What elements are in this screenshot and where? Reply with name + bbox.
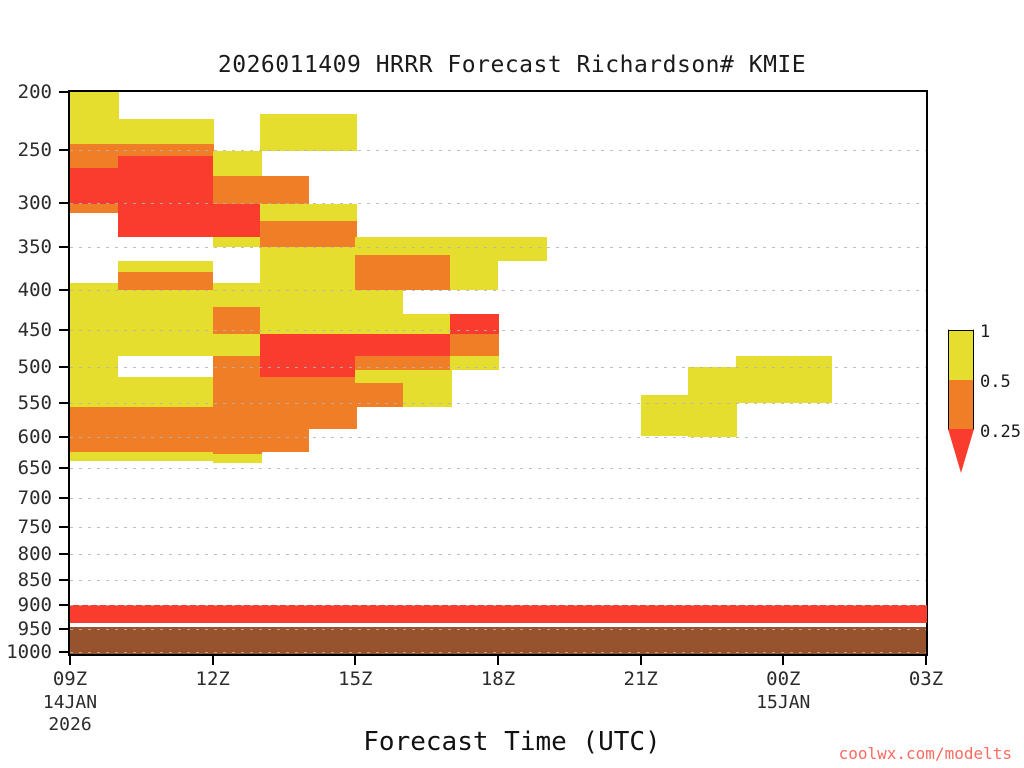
surface-layer-cell [593,605,642,623]
surface-layer-cell [783,605,832,623]
heatmap-cell [213,454,262,462]
x-tick-sublabel-15JAN: 15JAN [756,692,810,713]
heatmap-cell [783,356,832,403]
heatmap-cell [70,144,119,156]
y-tick-mark [59,651,68,653]
heatmap-cell [308,377,357,406]
heatmap-cell [308,261,357,290]
surface-layer-cell [831,605,880,623]
y-tick-mark [59,246,68,248]
heatmap-cell [403,370,452,383]
heatmap-cell [118,213,167,237]
colorbar-arrow-below [948,429,974,473]
heatmap-cell [165,452,214,461]
heatmap-cell [70,334,119,371]
surface-layer-cell [878,605,927,623]
y-tick-label-350: 350 [18,236,52,258]
heatmap-cell [213,307,262,334]
heatmap-cell [308,356,357,377]
heatmap-cell [70,407,119,429]
y-tick-mark [59,366,68,368]
x-tick-sublabel-14JAN: 14JAN [43,692,97,713]
heatmap-cell [70,429,119,451]
heatmap-cell [308,221,357,246]
heatmap-cell [118,334,167,356]
heatmap-cell [165,156,214,214]
y-tick-label-400: 400 [18,279,52,301]
heatmap-cell [308,247,357,261]
y-axis: 2002503003504004505005506006507007508008… [0,90,68,656]
heatmap-cell [118,119,167,144]
surface-layer-cell [165,605,214,623]
colorbar-label-025: 0.25 [980,422,1021,442]
heatmap-cell [260,261,309,290]
heatmap-cell [213,151,262,176]
colorbar-segment-orange [949,380,973,429]
colorbar-legend: 1 0.5 0.25 [944,300,1024,480]
heatmap-cell [213,407,262,429]
heatmap-cell [355,370,404,383]
x-tick-label-12Z: 12Z [196,668,230,690]
y-tick-mark [59,579,68,581]
x-tick-mark [212,656,214,665]
y-tick-mark [59,329,68,331]
heatmap-cell [213,334,262,356]
heatmap-cell [70,168,119,205]
heatmap-cell [213,356,262,407]
surface-layer-cell [260,605,309,623]
x-tick-label-15Z: 15Z [338,668,372,690]
heatmap-cell [165,119,214,144]
heatmap-cell [260,334,309,356]
y-tick-mark [59,402,68,404]
heatmap-cell [403,383,452,407]
heatmap-cell [355,314,404,334]
heatmap-cell [308,204,357,221]
y-tick-label-700: 700 [18,487,52,509]
heatmap-cell [308,334,357,356]
y-tick-label-450: 450 [18,319,52,341]
heatmap-cell [165,377,214,406]
y-tick-label-950: 950 [18,618,52,640]
y-tick-label-250: 250 [18,139,52,161]
surface-layer-cell [355,605,404,623]
colorbar-segment-yellow [949,331,973,380]
heatmap-cell [165,407,214,452]
y-tick-mark [59,628,68,630]
y-tick-mark [59,436,68,438]
heatmap-cell [355,383,404,407]
heatmap-cell [213,176,262,204]
y-tick-label-600: 600 [18,426,52,448]
heatmap-cell [260,377,309,406]
heatmap-cell [403,255,452,290]
heatmap-cell [450,255,499,290]
surface-layer-cell [546,605,595,623]
heatmap-cell [355,237,404,255]
y-tick-mark [59,91,68,93]
heatmap-cell [118,356,167,377]
heatmap-cell [260,247,309,261]
y-tick-label-850: 850 [18,569,52,591]
heatmap-cell [118,272,167,290]
heatmap-cell [403,237,452,255]
colorbar-label-05: 0.5 [980,372,1011,392]
colorbar-label-1: 1 [980,322,990,342]
heatmap-cell [118,237,167,261]
heatmap-cell [165,213,214,237]
heatmap-cell [450,237,499,255]
surface-layer-cell [498,605,547,623]
y-tick-label-900: 900 [18,594,52,616]
heatmap-cell [165,144,214,156]
watermark: coolwx.com/modelts [839,744,1012,763]
heatmap-cell [213,247,262,284]
y-tick-label-300: 300 [18,192,52,214]
heatmap-cell [260,204,309,221]
heatmap-cell [70,240,119,283]
colorbar-arrow-above-outline [948,300,974,331]
heatmap-cell [213,429,262,454]
y-tick-label-1000: 1000 [6,641,52,663]
surface-layer-cell [403,605,452,623]
heatmap-cell [70,283,119,334]
heatmap-cell [260,356,309,377]
heatmap-cell [403,290,452,314]
x-tick-mark [69,656,71,665]
colorbar-body [948,330,974,430]
heatmap-cell [260,407,309,452]
heatmap-cell [70,204,119,213]
heatmap-cell [70,119,119,144]
heatmap-cell [355,356,404,370]
heatmap-cell [450,314,499,334]
heatmap-cell [118,261,167,272]
surface-layer-cell [450,605,499,623]
heatmap-cell [355,334,404,356]
heatmap-cell [308,114,357,151]
x-tick-label-00Z: 00Z [766,668,800,690]
heatmap-cell [70,213,119,239]
heatmap-cell [403,356,452,370]
heatmap-cell [213,204,262,237]
heatmap-cell [213,237,262,247]
y-tick-mark [59,289,68,291]
heatmap-cell [118,407,167,452]
y-tick-label-800: 800 [18,543,52,565]
heatmap-cell [260,114,309,151]
heatmap-cell [498,261,547,290]
y-tick-label-650: 650 [18,457,52,479]
heatmap-cell [70,156,119,168]
heatmap-cell [70,370,119,407]
heatmap-cell [403,314,452,334]
x-tick-label-21Z: 21Z [624,668,658,690]
x-tick-mark [497,656,499,665]
heatmap-cell [165,290,214,334]
y-tick-mark [59,526,68,528]
x-tick-label-09Z: 09Z [53,668,87,690]
y-tick-mark [59,604,68,606]
heatmap-cell [308,407,357,429]
heatmap-cell [308,290,357,334]
heatmap-cell [118,452,167,461]
y-tick-mark [59,202,68,204]
heatmap-cell [260,176,309,204]
surface-layer-cell [308,605,357,623]
heatmap-cell [118,377,167,406]
heatmap-cell [213,283,262,307]
y-tick-label-750: 750 [18,516,52,538]
heatmap-cell [70,452,119,461]
heatmap-cell [165,272,214,290]
x-tick-label-18Z: 18Z [481,668,515,690]
x-tick-mark [782,656,784,665]
heatmap-cell [165,356,214,377]
heatmap-cell [118,290,167,334]
surface-layer-cell [70,605,119,623]
heatmap-cell [118,144,167,156]
heatmap-cell [450,356,499,370]
y-tick-label-200: 200 [18,81,52,103]
heatmap-cell [118,156,167,214]
heatmap-cell [260,221,309,246]
heatmap-cell [165,237,214,261]
terrain-band [70,627,926,654]
chart-title: 2026011409 HRRR Forecast Richardson# KMI… [0,52,1024,78]
y-tick-mark [59,149,68,151]
surface-layer-cell [213,605,262,623]
surface-layer-cell [118,605,167,623]
heatmap-cell [70,92,119,119]
plot-area [68,90,928,656]
y-tick-label-550: 550 [18,392,52,414]
x-tick-mark [925,656,927,665]
x-tick-mark [354,656,356,665]
surface-layer-cell [641,605,690,623]
y-tick-mark [59,553,68,555]
heatmap-cell [165,334,214,356]
x-tick-mark [640,656,642,665]
heatmap-cell [403,334,452,356]
y-tick-mark [59,467,68,469]
surface-layer-cell [736,605,785,623]
y-tick-mark [59,497,68,499]
heatmap-cell [165,261,214,272]
y-tick-label-500: 500 [18,356,52,378]
heatmap-cell [450,334,499,356]
heatmap-cell [450,290,499,314]
heatmap-cells [70,92,926,654]
heatmap-cell [355,255,404,290]
heatmap-cell [260,290,309,334]
heatmap-cell [498,237,547,261]
surface-layer-cell [688,605,737,623]
heatmap-cell [355,290,404,314]
heatmap-cell [688,367,737,436]
x-tick-label-03Z: 03Z [909,668,943,690]
heatmap-cell [736,356,785,403]
chart-canvas: 2026011409 HRRR Forecast Richardson# KMI… [0,0,1024,768]
heatmap-cell [641,395,690,436]
